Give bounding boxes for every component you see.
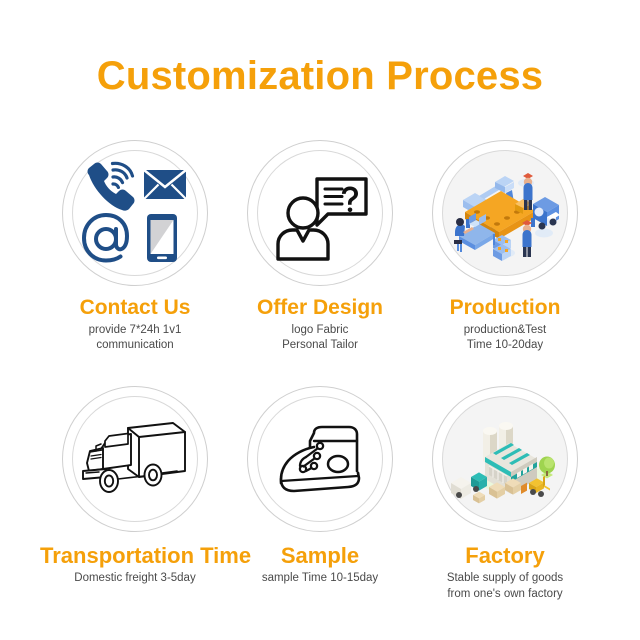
- factory-building-illustration: [449, 403, 561, 515]
- step-contact-us[interactable]: Contact Us provide 7*24h 1v1 communicati…: [43, 140, 228, 354]
- step-title: Contact Us: [40, 296, 230, 320]
- mobile-phone-icon: [147, 214, 177, 262]
- step-title: Production: [410, 296, 600, 320]
- step-title: Factory: [410, 544, 600, 569]
- standing-worker-bottom: [522, 220, 532, 257]
- step-subtitle-line: communication: [40, 338, 230, 354]
- step-sample-badge: [247, 386, 393, 532]
- step-subtitle-line: Time 10-20day: [410, 338, 600, 354]
- at-symbol-icon: [84, 215, 127, 261]
- step-subtitle-line: provide 7*24h 1v1: [40, 323, 230, 339]
- step-production[interactable]: Production production&Test Time 10-20day: [413, 140, 598, 354]
- step-title: Offer Design: [225, 296, 415, 320]
- step-subtitle-line: from one's own factory: [410, 587, 600, 603]
- step-production-caption: Production production&Test Time 10-20day: [410, 296, 600, 354]
- page-title: Customization Process: [0, 56, 640, 96]
- step-transportation-time[interactable]: Transportation Time Domestic freight 3-5…: [43, 386, 228, 587]
- delivery-truck-icon: [79, 403, 191, 515]
- factory-production-illustration: [449, 157, 561, 269]
- step-offer-design[interactable]: Offer Design logo Fabric Personal Tailor: [228, 140, 413, 354]
- step-subtitle: Domestic freight 3-5day: [40, 571, 230, 587]
- step-subtitle: provide 7*24h 1v1 communication: [40, 323, 230, 354]
- tree: [539, 456, 555, 478]
- envelope-icon: [144, 170, 186, 199]
- stacked-boxes: [493, 235, 511, 261]
- step-factory-badge: [432, 386, 578, 532]
- person-speech-bubble-icon: [264, 157, 376, 269]
- step-production-badge: [432, 140, 578, 286]
- delivery-truck: [533, 197, 560, 230]
- step-transportation-time-caption: Transportation Time Domestic freight 3-5…: [40, 544, 230, 587]
- contact-icons: [79, 157, 191, 269]
- boot-shoe-icon: [264, 403, 376, 515]
- phone-signal-waves: [113, 163, 133, 187]
- step-subtitle: logo Fabric Personal Tailor: [225, 323, 415, 354]
- step-subtitle-line: logo Fabric: [225, 323, 415, 339]
- step-offer-design-caption: Offer Design logo Fabric Personal Tailor: [225, 296, 415, 354]
- step-subtitle-line: Personal Tailor: [225, 338, 415, 354]
- step-subtitle-line: Domestic freight 3-5day: [40, 571, 230, 587]
- step-title: Sample: [225, 544, 415, 569]
- step-title: Transportation Time: [40, 544, 230, 569]
- step-subtitle-line: Stable supply of goods: [410, 571, 600, 587]
- step-subtitle: sample Time 10-15day: [225, 571, 415, 587]
- step-subtitle: production&Test Time 10-20day: [410, 323, 600, 354]
- step-sample-caption: Sample sample Time 10-15day: [225, 544, 415, 587]
- steps-row-top: Contact Us provide 7*24h 1v1 communicati…: [0, 140, 640, 354]
- step-transportation-time-badge: [62, 386, 208, 532]
- speech-bubble-icon: [317, 179, 366, 225]
- steps-grid: Contact Us provide 7*24h 1v1 communicati…: [0, 140, 640, 602]
- step-contact-us-badge: [62, 140, 208, 286]
- steps-row-bottom: Transportation Time Domestic freight 3-5…: [0, 386, 640, 603]
- infographic-page: Customization Process: [0, 0, 640, 640]
- step-sample[interactable]: Sample sample Time 10-15day: [228, 386, 413, 587]
- step-offer-design-badge: [247, 140, 393, 286]
- step-factory[interactable]: Factory Stable supply of goods from one'…: [413, 386, 598, 603]
- step-contact-us-caption: Contact Us provide 7*24h 1v1 communicati…: [40, 296, 230, 354]
- step-subtitle: Stable supply of goods from one's own fa…: [410, 571, 600, 602]
- step-subtitle-line: production&Test: [410, 323, 600, 339]
- step-factory-caption: Factory Stable supply of goods from one'…: [410, 544, 600, 603]
- step-subtitle-line: sample Time 10-15day: [225, 571, 415, 587]
